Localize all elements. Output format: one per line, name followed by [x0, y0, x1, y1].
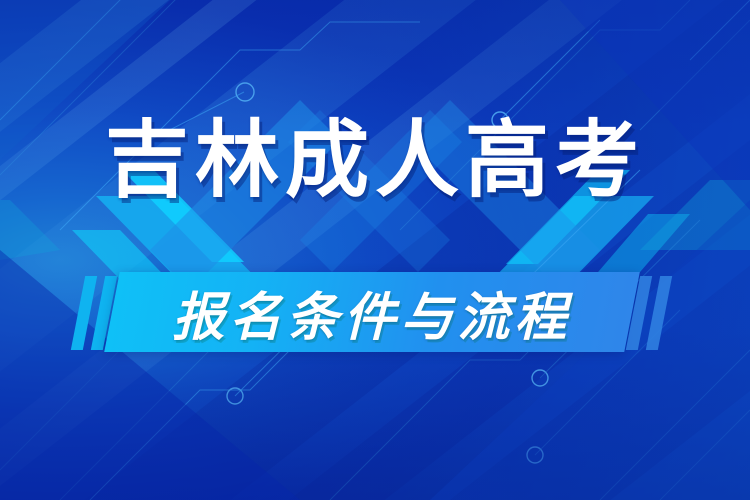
banner-subtitle: 报名条件与流程	[112, 272, 632, 352]
wedge-shape-group	[0, 0, 750, 500]
subtitle-ribbon-group: 报名条件与流程	[0, 268, 750, 360]
banner-title: 吉林成人高考	[0, 118, 750, 202]
promo-banner: 吉林成人高考 报名条件与流程	[0, 0, 750, 500]
